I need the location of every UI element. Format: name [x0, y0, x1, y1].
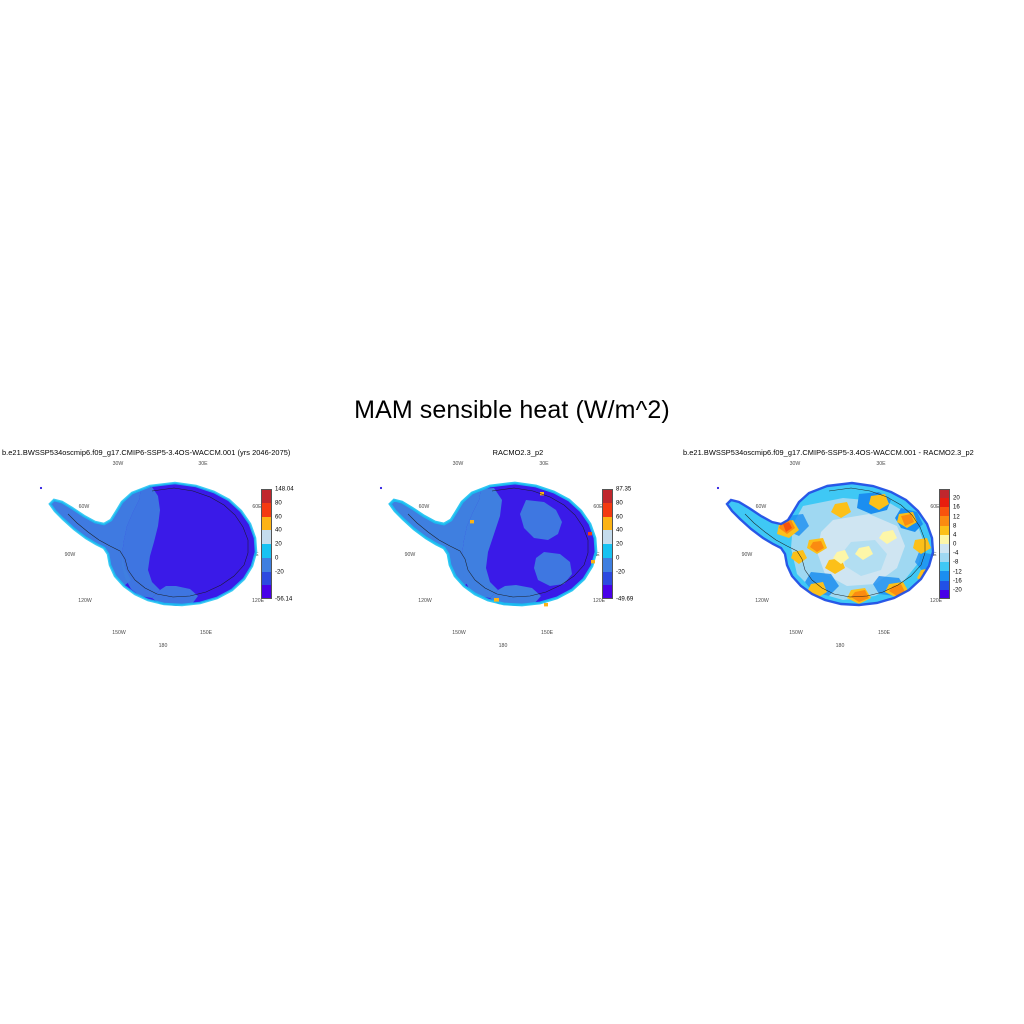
colorbar-tick: 20	[953, 495, 960, 502]
colorbar-band	[939, 526, 950, 535]
colorbar-band	[939, 516, 950, 525]
colorbar-band	[939, 562, 950, 571]
colorbar-band	[602, 517, 613, 531]
colorbar-tick: 87.35	[616, 486, 631, 493]
colorbar-band	[939, 553, 950, 562]
colorbar-tick: 60	[616, 513, 623, 520]
colorbar-band	[939, 581, 950, 590]
colorbar-band	[939, 489, 950, 498]
colorbar-tick: -4	[953, 550, 958, 557]
colorbar-band	[602, 558, 613, 572]
map-panel-0: b.e21.BWSSP534oscmip6.f09_g17.CMIP6-SSP5…	[0, 446, 348, 646]
colorbar-tick: -8	[953, 559, 958, 566]
colorbar-band	[939, 571, 950, 580]
colorbar-tick: -12	[953, 568, 962, 575]
colorbar-tick: 40	[275, 527, 282, 534]
page-title: MAM sensible heat (W/m^2)	[0, 396, 1024, 425]
antarctica-map-2	[683, 456, 1024, 646]
colorbar-band	[602, 489, 613, 503]
colorbar-band	[602, 572, 613, 586]
colorbar-tick: -56.14	[275, 596, 292, 603]
colorbar-band	[261, 517, 272, 531]
colorbar-tick: 0	[275, 554, 278, 561]
colorbar-tick: -20	[616, 568, 625, 575]
colorbar-tick: 60	[275, 513, 282, 520]
figure-canvas: MAM sensible heat (W/m^2) b.e21.BWSSP534…	[0, 0, 1024, 1024]
colorbar-tick: 20	[616, 541, 623, 548]
colorbar-band	[602, 530, 613, 544]
colorbar-band	[261, 572, 272, 586]
map-plot-2: 30W 30E 60W 60E 90W 90E 120W 120E 150W 1…	[683, 456, 1024, 646]
colorbar-tick: 8	[953, 522, 956, 529]
map-panel-2: b.e21.BWSSP534oscmip6.f09_g17.CMIP6-SSP5…	[683, 446, 1024, 646]
colorbar-band	[602, 585, 613, 599]
colorbar-band	[261, 503, 272, 517]
colorbar-tick: 16	[953, 504, 960, 511]
colorbar-band	[939, 535, 950, 544]
colorbar-tick: 80	[275, 499, 282, 506]
colorbar-band	[939, 544, 950, 553]
antarctica-map-1	[348, 456, 688, 646]
antarctica-map-0	[0, 456, 348, 646]
colorbar-band	[261, 489, 272, 503]
colorbar-tick: 40	[616, 527, 623, 534]
colorbar-tick: -20	[953, 586, 962, 593]
colorbar-1: 87.35 80 60 40 20 0 -20 -49.69	[602, 489, 613, 599]
colorbar-tick: 20	[275, 541, 282, 548]
colorbar-tick: 0	[616, 554, 619, 561]
colorbar-tick: 148.04	[275, 486, 294, 493]
colorbar-band	[261, 530, 272, 544]
colorbar-band	[939, 507, 950, 516]
colorbar-band	[939, 498, 950, 507]
colorbar-band	[602, 503, 613, 517]
map-panel-1: RACMO2.3_p2 30W 30E 60W 60E 90W 90E 120W…	[348, 446, 688, 646]
colorbar-2: 20 16 12 8 4 0 -4 -8 -12 -16 -20	[939, 489, 950, 599]
colorbar-tick: -16	[953, 577, 962, 584]
colorbar-tick: -20	[275, 568, 284, 575]
colorbar-tick: 4	[953, 531, 956, 538]
colorbar-tick: 0	[953, 541, 956, 548]
colorbar-band	[939, 590, 950, 599]
colorbar-band	[261, 558, 272, 572]
colorbar-tick: -49.69	[616, 596, 633, 603]
colorbar-band	[261, 544, 272, 558]
colorbar-tick: 80	[616, 499, 623, 506]
map-plot-0: 30W 30E 60W 60E 90W 90E 120W 120E 150W 1…	[0, 456, 348, 646]
colorbar-tick: 12	[953, 513, 960, 520]
map-plot-1: 30W 30E 60W 60E 90W 90E 120W 120E 150W 1…	[348, 456, 688, 646]
colorbar-band	[602, 544, 613, 558]
colorbar-band	[261, 585, 272, 599]
colorbar-0: 148.04 80 60 40 20 0 -20 -56.14	[261, 489, 272, 599]
